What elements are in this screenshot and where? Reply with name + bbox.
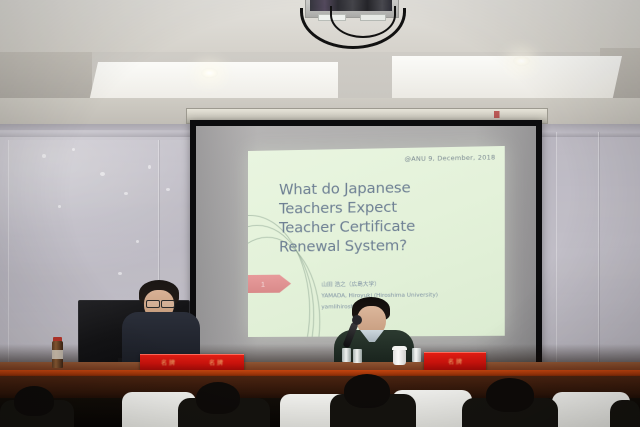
drinking-glass (342, 348, 351, 362)
bottle-label (52, 350, 63, 359)
lecture-hall-photo: @ANU 9, December, 2018 What do Japanese … (0, 0, 640, 427)
screen-brand-logo (494, 111, 528, 118)
wall-mark (118, 272, 122, 275)
audience-head (196, 382, 240, 414)
nameplate-left: 名 牌 名 牌 (140, 354, 244, 370)
wall-panel (598, 132, 640, 364)
nameplate-text: 名 牌 (448, 357, 462, 366)
slide-byline-line: yamlihiroshima-u.ac.jp (321, 301, 495, 313)
nameplate-right: 名 牌 (424, 352, 486, 370)
nameplate-text: 名 牌 (161, 358, 175, 367)
ceiling-panel-left (0, 52, 92, 98)
wall-mark (58, 205, 61, 208)
wall-panel (556, 132, 600, 364)
slide-date-line: @ANU 9, December, 2018 (405, 154, 496, 163)
audience-head (486, 378, 534, 412)
wall-mark (72, 148, 75, 151)
wall-mark (124, 192, 128, 195)
microphone-head-icon (352, 315, 362, 325)
slide-byline: 山田 浩之（広島大学） YAMADA, Hiroyuki (Hiroshima … (321, 279, 495, 314)
drinking-glass (353, 349, 362, 363)
nameplate-text: 名 牌 (209, 358, 223, 367)
downlight-icon (201, 68, 218, 78)
slide-title-line: Renewal System? (279, 236, 489, 258)
wall-mark (136, 240, 139, 243)
eyeglasses-icon (146, 300, 160, 308)
slide-title: What do Japanese Teachers Expect Teacher… (279, 178, 489, 258)
wall-mark (42, 154, 46, 158)
wall-mark (166, 188, 170, 191)
slide-title-line: Teacher Certificate (279, 217, 489, 239)
drinking-glass (412, 348, 421, 362)
wall-mark (148, 165, 151, 169)
paper-cup (393, 350, 406, 365)
audience-member (610, 400, 640, 427)
ceiling-recess-right (392, 56, 622, 98)
audience-head (14, 386, 54, 416)
downlight-icon (513, 56, 530, 66)
audience-head (344, 374, 390, 408)
wall-mark (100, 172, 105, 176)
eyeglasses-icon (161, 300, 175, 308)
